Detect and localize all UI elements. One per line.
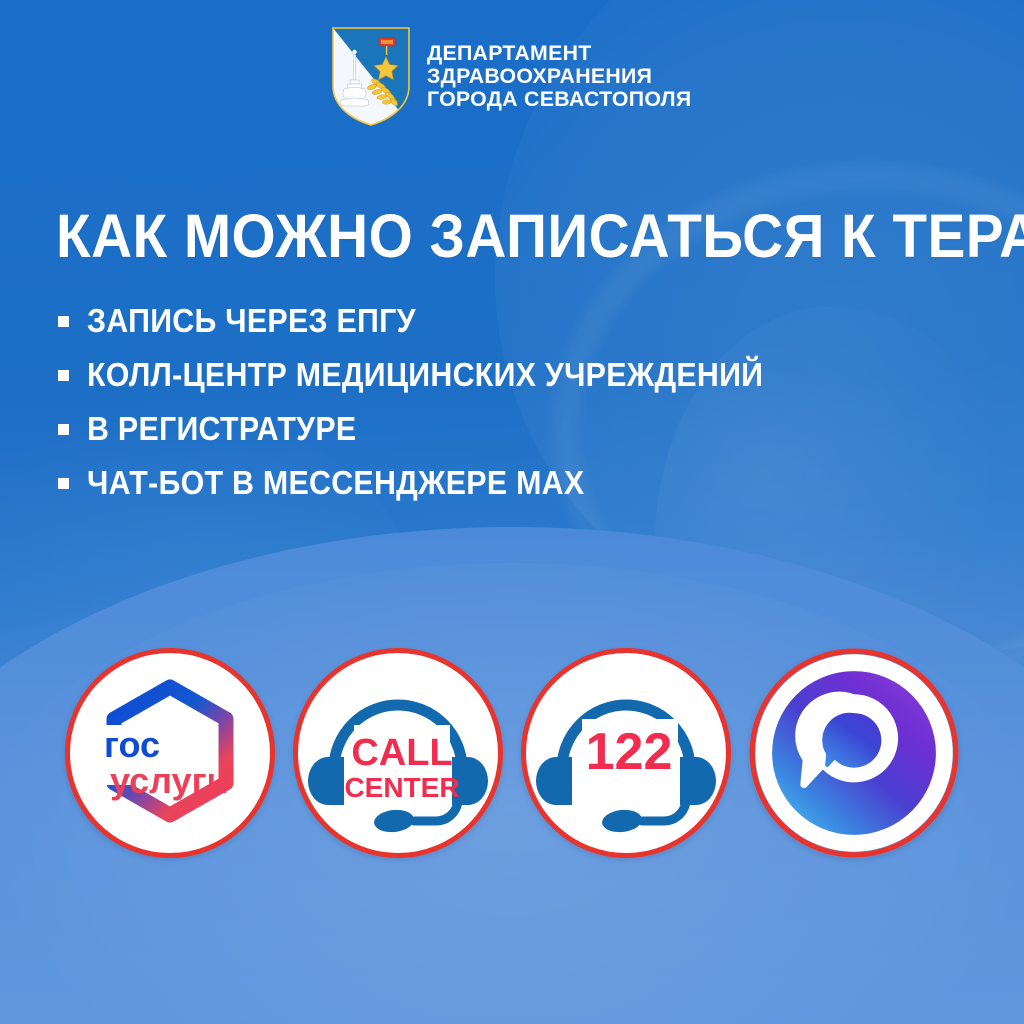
department-line-2: ЗДРАВООХРАНЕНИЯ	[427, 65, 691, 88]
channel-icons-row: гос услуги CALL CENTER	[0, 648, 1024, 858]
list-item-label: КОЛЛ-ЦЕНТР МЕДИЦИНСКИХ УЧРЕЖДЕНИЙ	[87, 356, 763, 394]
sevastopol-coat-of-arms-icon	[329, 24, 413, 128]
list-item: КОЛЛ-ЦЕНТР МЕДИЦИНСКИХ УЧРЕЖДЕНИЙ	[58, 348, 938, 402]
max-messenger-badge[interactable]	[749, 648, 959, 858]
hotline-122-headset-icon: 122	[526, 653, 726, 853]
list-item: ЗАПИСЬ ЧЕРЕЗ ЕПГУ	[58, 294, 938, 348]
bullet-square-icon	[58, 316, 69, 327]
call-center-badge[interactable]: CALL CENTER	[293, 648, 503, 858]
list-item-label: ЗАПИСЬ ЧЕРЕЗ ЕПГУ	[87, 302, 416, 340]
gosuslugi-text-top: гос	[104, 724, 160, 765]
gosuslugi-text-bottom: услуги	[110, 760, 229, 801]
bullet-square-icon	[58, 424, 69, 435]
methods-list: ЗАПИСЬ ЧЕРЕЗ ЕПГУ КОЛЛ-ЦЕНТР МЕДИЦИНСКИХ…	[58, 294, 938, 510]
hotline-122-badge[interactable]: 122	[521, 648, 731, 858]
hotline-122-text: 122	[586, 723, 673, 781]
call-center-text-top: CALL	[351, 732, 452, 774]
page-title: КАК МОЖНО ЗАПИСАТЬСЯ К ТЕРАПЕВТУ	[56, 206, 921, 267]
poster-root: ДЕПАРТАМЕНТ ЗДРАВООХРАНЕНИЯ ГОРОДА СЕВАС…	[0, 0, 1024, 1024]
list-item-label: ЧАТ-БОТ В МЕССЕНДЖЕРЕ MAX	[87, 464, 584, 502]
department-line-1: ДЕПАРТАМЕНТ	[427, 42, 691, 65]
max-messenger-logo-icon	[749, 648, 959, 858]
bullet-square-icon	[58, 370, 69, 381]
call-center-headset-icon: CALL CENTER	[298, 653, 498, 853]
department-line-3: ГОРОДА СЕВАСТОПОЛЯ	[427, 88, 691, 111]
list-item: ЧАТ-БОТ В МЕССЕНДЖЕРЕ MAX	[58, 456, 938, 510]
header: ДЕПАРТАМЕНТ ЗДРАВООХРАНЕНИЯ ГОРОДА СЕВАС…	[0, 24, 1024, 128]
call-center-text-bottom: CENTER	[344, 772, 459, 803]
gosuslugi-badge[interactable]: гос услуги	[65, 648, 275, 858]
list-item: В РЕГИСТРАТУРЕ	[58, 402, 938, 456]
department-title: ДЕПАРТАМЕНТ ЗДРАВООХРАНЕНИЯ ГОРОДА СЕВАС…	[427, 42, 694, 111]
gosuslugi-logo-icon: гос услуги	[70, 653, 270, 853]
bullet-square-icon	[58, 478, 69, 489]
list-item-label: В РЕГИСТРАТУРЕ	[87, 410, 356, 448]
